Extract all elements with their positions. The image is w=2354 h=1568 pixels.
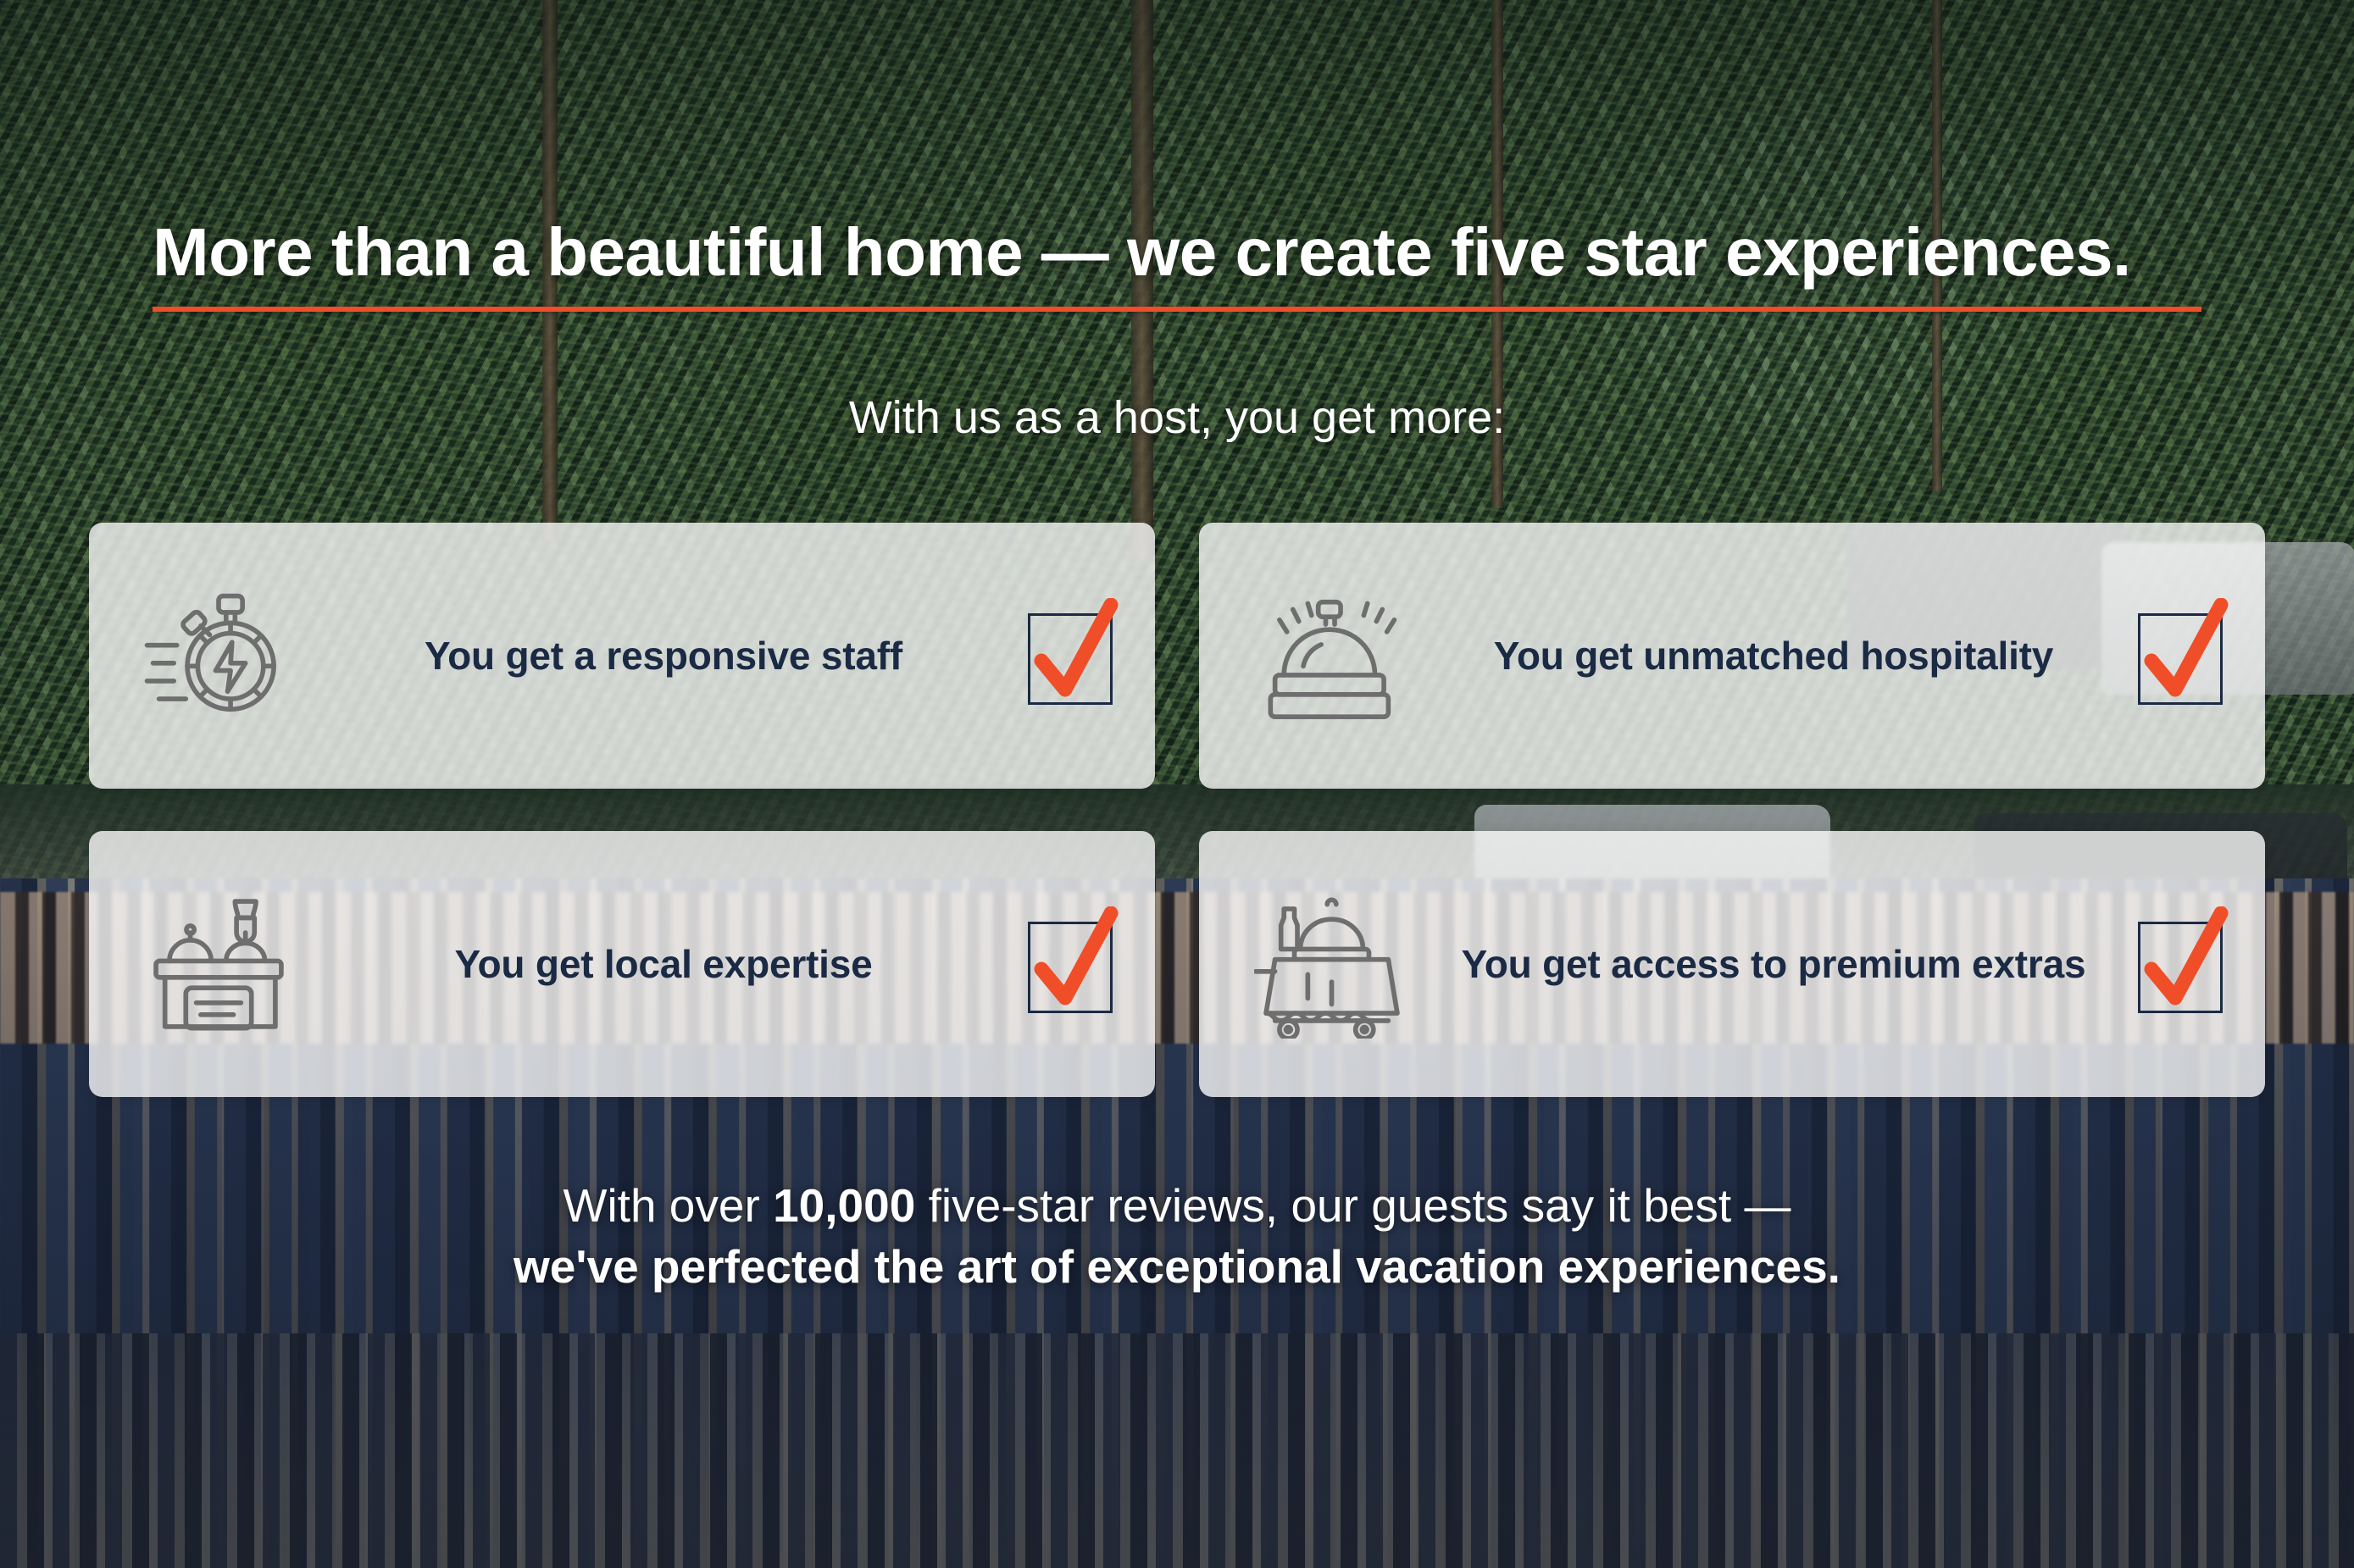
footer-statement: With over 10,000 five-star reviews, our … — [0, 1176, 2354, 1297]
page-subheadline: With us as a host, you get more: — [0, 391, 2354, 444]
concierge-desk-icon — [138, 889, 299, 1039]
page-headline: More than a beautiful home — we create f… — [153, 213, 2201, 291]
benefit-label: You get a responsive staff — [299, 633, 1028, 679]
check-icon — [2133, 598, 2235, 717]
footer-line-1: With over 10,000 five-star reviews, our … — [0, 1176, 2354, 1237]
benefit-card[interactable]: You get unmatched hospitality — [1199, 523, 2265, 789]
benefit-checkbox[interactable] — [2138, 910, 2228, 1018]
review-count: 10,000 — [773, 1179, 915, 1232]
benefit-checkbox[interactable] — [1028, 910, 1118, 1018]
check-icon — [1023, 906, 1124, 1025]
benefit-label: You get unmatched hospitality — [1409, 633, 2138, 679]
benefit-checkbox[interactable] — [1028, 601, 1118, 710]
headline-block: More than a beautiful home — we create f… — [153, 213, 2201, 312]
room-service-cart-icon — [1248, 889, 1409, 1039]
hero-section: More than a beautiful home — we create f… — [0, 0, 2354, 1568]
footer-line1-suffix: five-star reviews, our guests say it bes… — [915, 1179, 1790, 1232]
footer-line-2: we've perfected the art of exceptional v… — [0, 1237, 2354, 1298]
benefits-grid: You get a responsive staff — [89, 523, 2265, 1097]
benefit-card[interactable]: You get local expertise — [89, 831, 1155, 1097]
stopwatch-lightning-icon — [138, 581, 299, 730]
headline-accent-rule — [153, 307, 2201, 312]
check-icon — [1023, 598, 1124, 717]
benefit-label: You get local expertise — [299, 941, 1028, 987]
footer-line1-prefix: With over — [564, 1179, 774, 1232]
service-bell-icon — [1248, 581, 1409, 730]
benefit-label: You get access to premium extras — [1409, 941, 2138, 987]
benefit-card[interactable]: You get access to premium extras — [1199, 831, 2265, 1097]
benefit-card[interactable]: You get a responsive staff — [89, 523, 1155, 789]
benefit-checkbox[interactable] — [2138, 601, 2228, 710]
check-icon — [2133, 906, 2235, 1025]
